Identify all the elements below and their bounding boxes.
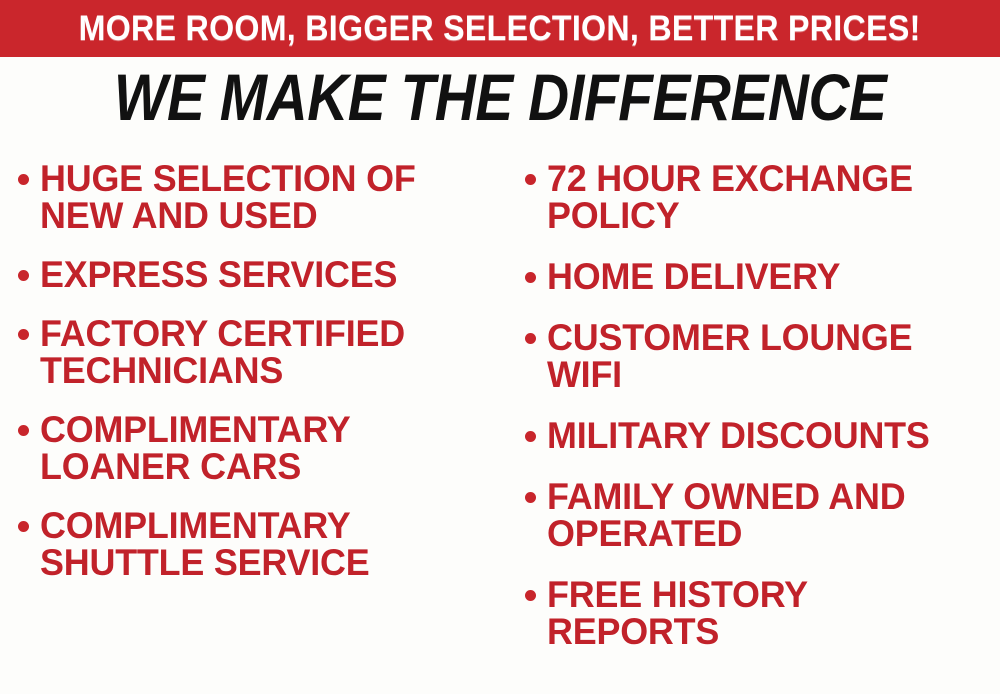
- list-item: FACTORY CERTIFIED TECHNICIANS: [18, 315, 505, 389]
- bullet-dot-icon: [525, 431, 536, 442]
- list-item: HUGE SELECTION OF NEW AND USED: [18, 160, 505, 234]
- list-item: FAMILY OWNED AND OPERATED: [525, 478, 1000, 552]
- list-item: MILITARY DISCOUNTS: [525, 417, 1000, 454]
- list-item-label: FAMILY OWNED AND OPERATED: [547, 478, 985, 552]
- bullet-dot-icon: [525, 272, 536, 283]
- list-item-label: FACTORY CERTIFIED TECHNICIANS: [40, 315, 459, 389]
- page-title: WE MAKE THE DIFFERENCE: [114, 62, 887, 132]
- list-item-label: HOME DELIVERY: [547, 258, 840, 295]
- bullet-dot-icon: [18, 270, 29, 281]
- list-item-label: EXPRESS SERVICES: [40, 256, 397, 293]
- features-column-right: 72 HOUR EXCHANGE POLICY HOME DELIVERY CU…: [505, 160, 1000, 674]
- bullet-dot-icon: [18, 329, 29, 340]
- list-item-label: COMPLIMENTARY LOANER CARS: [40, 411, 459, 485]
- list-item-label: FREE HISTORY REPORTS: [547, 576, 985, 650]
- top-promo-banner: MORE ROOM, BIGGER SELECTION, BETTER PRIC…: [0, 0, 1000, 57]
- list-item-label: COMPLIMENTARY SHUTTLE SERVICE: [40, 507, 459, 581]
- features-column-left: HUGE SELECTION OF NEW AND USED EXPRESS S…: [0, 160, 505, 603]
- bullet-dot-icon: [525, 590, 536, 601]
- bullet-dot-icon: [18, 425, 29, 436]
- list-item: HOME DELIVERY: [525, 258, 1000, 295]
- bullet-dot-icon: [525, 333, 536, 344]
- list-item: FREE HISTORY REPORTS: [525, 576, 1000, 650]
- bullet-dot-icon: [18, 521, 29, 532]
- list-item-label: HUGE SELECTION OF NEW AND USED: [40, 160, 459, 234]
- list-item: CUSTOMER LOUNGE WIFI: [525, 319, 1000, 393]
- bullet-dot-icon: [18, 174, 29, 185]
- list-item-label: CUSTOMER LOUNGE WIFI: [547, 319, 985, 393]
- list-item: COMPLIMENTARY LOANER CARS: [18, 411, 505, 485]
- list-item-label: MILITARY DISCOUNTS: [547, 417, 930, 454]
- advertisement-banner: MORE ROOM, BIGGER SELECTION, BETTER PRIC…: [0, 0, 1000, 694]
- headline-block: WE MAKE THE DIFFERENCE: [0, 62, 1000, 132]
- promo-banner-text: MORE ROOM, BIGGER SELECTION, BETTER PRIC…: [79, 11, 921, 46]
- list-item: EXPRESS SERVICES: [18, 256, 505, 293]
- list-item-label: 72 HOUR EXCHANGE POLICY: [547, 160, 985, 234]
- list-item: COMPLIMENTARY SHUTTLE SERVICE: [18, 507, 505, 581]
- bullet-dot-icon: [525, 174, 536, 185]
- features-columns: HUGE SELECTION OF NEW AND USED EXPRESS S…: [0, 160, 1000, 694]
- list-item: 72 HOUR EXCHANGE POLICY: [525, 160, 1000, 234]
- bullet-dot-icon: [525, 492, 536, 503]
